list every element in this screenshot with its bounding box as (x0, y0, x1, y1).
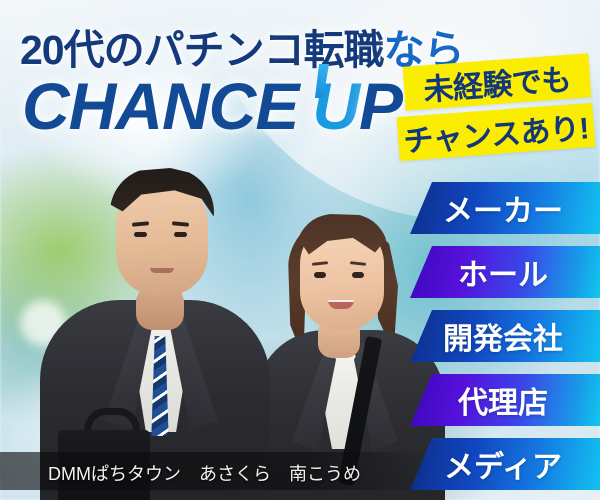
logo-word-chance: CHANCE (22, 69, 298, 143)
category-button-hall[interactable]: ホール (410, 246, 600, 298)
page-title: 20代のパチンコ転職なら (20, 16, 464, 76)
category-button-agency[interactable]: 代理店 (410, 374, 600, 426)
man-mouth (150, 268, 174, 273)
woman-eye-left (314, 272, 326, 278)
man-eye-left (134, 232, 147, 237)
category-label: 代理店 (410, 378, 600, 422)
category-button-developer[interactable]: 開発会社 (410, 310, 600, 362)
category-label: ホール (410, 250, 600, 294)
logo-chance-up: CHANCEUP (22, 68, 402, 144)
woman-eye-right (352, 272, 364, 278)
category-label: メーカー (410, 186, 600, 230)
category-label: 開発会社 (410, 314, 600, 358)
credit-text: DMMぱちタウン あさくら 南こうめ (48, 460, 361, 486)
man-eye-right (174, 232, 187, 237)
category-label: メディア (410, 442, 600, 486)
advertising-banner[interactable]: 20代のパチンコ転職なら CHANCEUP 未経験でも チャンスあり! メーカー… (0, 0, 600, 500)
logo-letter-p: P (359, 69, 402, 143)
headline-main: 20代のパチンコ転職 (20, 27, 384, 73)
category-button-media[interactable]: メディア (410, 438, 600, 490)
category-button-maker[interactable]: メーカー (410, 182, 600, 234)
